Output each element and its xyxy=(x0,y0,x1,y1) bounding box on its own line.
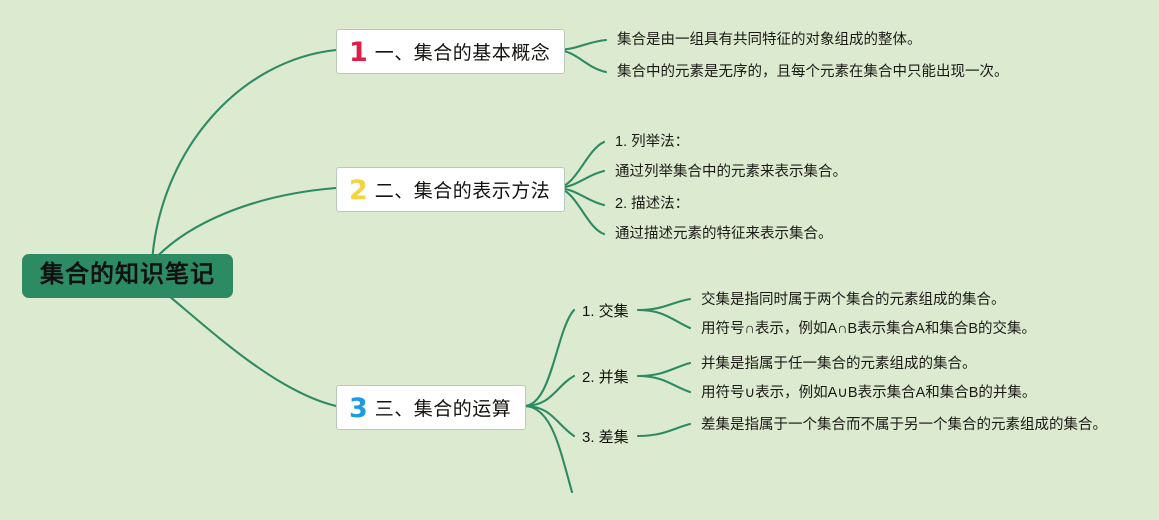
edge-root-branch-1 xyxy=(152,50,336,262)
edge-sub-0-leaf-0 xyxy=(638,299,690,310)
leaf-text: 2. 描述法： xyxy=(615,197,689,212)
leaf-text: 1. 列举法： xyxy=(615,135,689,150)
edge-sub-1-leaf-0 xyxy=(638,363,690,376)
edge-branch-3-stub-extra xyxy=(524,406,572,492)
subnode-difference[interactable]: 3. 差集 xyxy=(582,430,629,445)
subnode-union[interactable]: 2. 并集 xyxy=(582,370,629,385)
leaf-text: 交集是指同时属于两个集合的元素组成的集合。 xyxy=(701,293,1006,308)
edge-root-branch-2 xyxy=(152,188,336,262)
root-label: 集合的知识笔记 xyxy=(40,261,215,288)
edge-root-branch-3 xyxy=(152,282,336,406)
edge-sub-2-leaf-0 xyxy=(638,424,690,436)
root-node[interactable]: 集合的知识笔记 xyxy=(22,254,233,298)
branch-label-2: 二、集合的表示方法 xyxy=(375,182,551,201)
edge-branch-3-sub-2 xyxy=(524,406,574,436)
edge-branch-3-sub-1 xyxy=(524,376,574,406)
branch-label-3: 三、集合的运算 xyxy=(375,400,512,419)
leaf-text: 通过列举集合中的元素来表示集合。 xyxy=(615,165,847,180)
leaf-text: 差集是指属于一个集合而不属于另一个集合的元素组成的集合。 xyxy=(701,418,1107,433)
branch-number-1: 1 xyxy=(349,39,368,66)
leaf-text: 用符号∩表示，例如A∩B表示集合A和集合B的交集。 xyxy=(701,322,1036,337)
branch-node-1[interactable]: 1 一、集合的基本概念 xyxy=(336,29,565,74)
edge-branch-3-sub-0 xyxy=(524,310,574,406)
leaf-text: 集合中的元素是无序的，且每个元素在集合中只能出现一次。 xyxy=(617,65,1009,80)
subnode-intersection[interactable]: 1. 交集 xyxy=(582,304,629,319)
branch-number-3: 3 xyxy=(349,395,368,422)
edge-sub-0-leaf-1 xyxy=(638,310,690,328)
branch-node-3[interactable]: 3 三、集合的运算 xyxy=(336,385,526,430)
leaf-text: 并集是指属于任一集合的元素组成的集合。 xyxy=(701,357,977,372)
branch-node-2[interactable]: 2 二、集合的表示方法 xyxy=(336,167,565,212)
mindmap-canvas: 集合的知识笔记 1 一、集合的基本概念 集合是由一组具有共同特征的对象组成的整体… xyxy=(0,0,1159,520)
edge-sub-1-leaf-1 xyxy=(638,376,690,392)
branch-number-2: 2 xyxy=(349,177,368,204)
leaf-text: 集合是由一组具有共同特征的对象组成的整体。 xyxy=(617,33,922,48)
leaf-text: 用符号∪表示，例如A∪B表示集合A和集合B的并集。 xyxy=(701,386,1036,401)
leaf-text: 通过描述元素的特征来表示集合。 xyxy=(615,227,833,242)
branch-label-1: 一、集合的基本概念 xyxy=(375,44,551,63)
